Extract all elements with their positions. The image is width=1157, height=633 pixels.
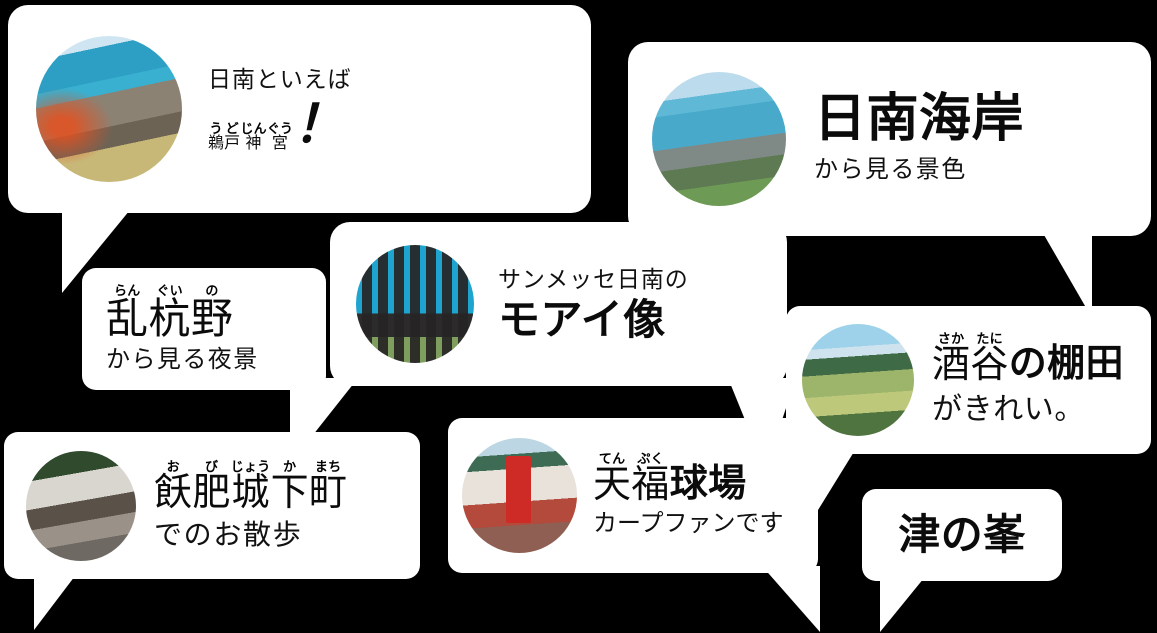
furigana-machi: まち — [315, 460, 342, 473]
kanji-gui: 杭 — [148, 298, 190, 340]
ruby-group-gui: ぐい 杭 — [148, 284, 190, 340]
bubble-rangui-no-footline: から見る夜景 — [106, 346, 259, 375]
ruby-group-no: の 野 — [191, 284, 233, 340]
ruby-group-do: ど 戸 — [224, 122, 240, 152]
obi-castle-town-photo — [26, 451, 136, 561]
sakatani-rice-terrace-photo — [802, 324, 914, 436]
bubble-rangui-no[interactable]: らん 乱 ぐい 杭 の 野 から見る夜景 — [82, 268, 326, 390]
collage-canvas: 日南といえば う 鵜 ど 戸 じん 神 ぐう — [0, 0, 1157, 633]
bubble-tail-tsunomine — [880, 578, 924, 632]
ruby-group-ka: か 下 — [271, 460, 309, 512]
bubble-nichinan-kaigan[interactable]: 日南海岸 から見る景色 — [628, 42, 1151, 236]
bubble-nichinan-kaigan-mainline: 日南海岸 — [814, 93, 1024, 146]
kanji-guu: 宮 — [272, 136, 288, 152]
bubble-udo-jingu[interactable]: 日南といえば う 鵜 ど 戸 じん 神 ぐう — [8, 5, 591, 213]
kanji-no: 野 — [191, 298, 233, 340]
ruby-group-o: お 飫 — [154, 460, 192, 512]
ruby-group-u: う 鵜 — [208, 122, 224, 152]
exclamation-mark: ！ — [293, 99, 346, 152]
bubble-obi-jokamachi-footline: でのお散歩 — [154, 518, 347, 552]
kanji-tani: 谷 — [970, 346, 1008, 384]
ruby-group-jou: じょう 城 — [231, 460, 271, 512]
ruby-group-ten: てん 天 — [593, 452, 631, 504]
bubble-sakatani-tanada-footline: がきれい。 — [932, 392, 1124, 428]
bubble-nichinan-kaigan-footline: から見る景色 — [814, 156, 1024, 185]
nichinan-coastline-photo — [652, 72, 786, 206]
furigana-do: ど — [226, 122, 239, 135]
ruby-group-guu: ぐう 宮 — [267, 122, 293, 152]
bubble-tenpuku-kyujo[interactable]: てん 天 ぷく 福 球場 カープファンです — [448, 418, 818, 573]
kanji-do: 戸 — [224, 136, 240, 152]
udo-jingu-coast-photo — [36, 36, 182, 182]
bubble-tail-tenpuku-kyujo — [762, 566, 820, 632]
ruby-group-machi: まち 町 — [309, 460, 347, 512]
kanji-bi: 肥 — [192, 474, 230, 512]
kanji-kyujo: 球場 — [670, 465, 747, 504]
kanji-saka: 酒 — [932, 346, 970, 384]
bubble-sakatani-tanada[interactable]: さか 酒 たに 谷 の棚田 がきれい。 — [786, 306, 1151, 454]
furigana-jou: じょう — [231, 460, 271, 473]
kanji-o: 飫 — [154, 474, 192, 512]
bubble-tsunomine[interactable]: 津の峯 — [862, 489, 1062, 581]
bubble-moai-subline: サンメッセ日南の — [498, 266, 689, 292]
bubble-tail-nichinan-kaigan — [1040, 228, 1092, 318]
kanji-u: 鵜 — [208, 136, 224, 152]
ruby-group-ran: らん 乱 — [106, 284, 148, 340]
bubble-tsunomine-mainline: 津の峯 — [898, 514, 1025, 557]
furigana-jin: じん — [240, 122, 267, 135]
bubble-moai[interactable]: サンメッセ日南の モアイ像 — [330, 222, 787, 386]
kanji-puku: 福 — [631, 466, 669, 504]
ruby-group-tani: たに 谷 — [970, 332, 1008, 384]
ruby-group-jin: じん 神 — [240, 122, 267, 152]
kanji-ten: 天 — [593, 466, 631, 504]
bubble-tail-obi-jokamachi — [34, 572, 78, 630]
bubble-tenpuku-kyujo-footline: カープファンです — [593, 510, 784, 539]
ruby-group-puku: ぷく 福 — [631, 452, 669, 504]
moai-statues-photo — [356, 245, 474, 363]
bubble-moai-mainline: モアイ像 — [498, 299, 689, 342]
kanji-machi: 町 — [309, 474, 347, 512]
ruby-group-saka: さか 酒 — [932, 332, 970, 384]
furigana-o: お — [167, 460, 180, 473]
ruby-group-bi: び 肥 — [192, 460, 230, 512]
kanji-ka: 下 — [271, 474, 309, 512]
furigana-bi: び — [205, 460, 218, 473]
kanji-ran: 乱 — [106, 298, 148, 340]
kanji-jin: 神 — [246, 136, 262, 152]
furigana-u: う — [209, 122, 222, 135]
tenpuku-stadium-photo — [462, 438, 577, 553]
furigana-guu: ぐう — [267, 122, 293, 135]
furigana-ka: か — [283, 460, 296, 473]
bubble-obi-jokamachi[interactable]: お 飫 び 肥 じょう 城 か 下 — [4, 432, 420, 579]
bubble-sakatani-tanada-maintail: の棚田 — [1009, 345, 1124, 384]
bubble-udo-jingu-subline: 日南といえば — [208, 66, 352, 92]
kanji-jou: 城 — [231, 474, 269, 512]
